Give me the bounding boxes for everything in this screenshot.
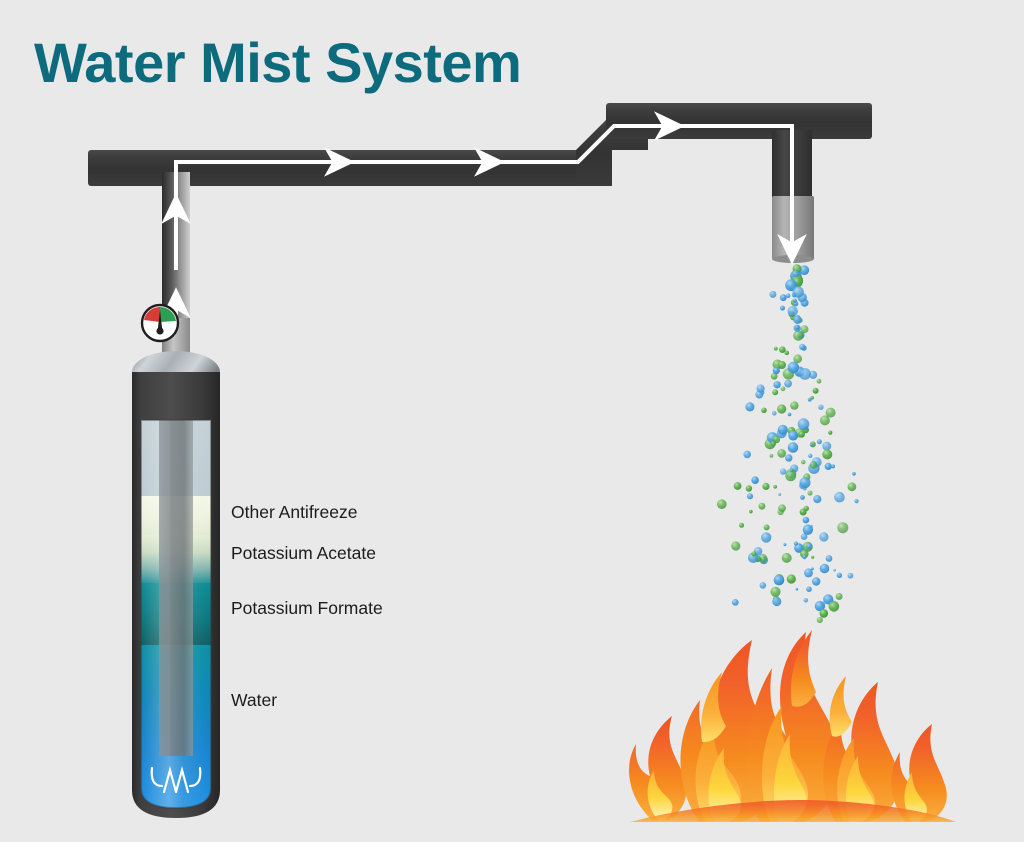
mist-droplet xyxy=(813,495,821,503)
mist-droplet xyxy=(836,593,843,600)
mist-droplet xyxy=(785,470,796,481)
tank-liquid-window xyxy=(139,418,213,813)
storage-tank xyxy=(132,318,220,818)
mist-droplet xyxy=(734,482,742,490)
mist-droplet xyxy=(731,541,740,550)
mist-droplet xyxy=(855,499,859,503)
mist-droplet xyxy=(817,379,822,384)
mist-droplet xyxy=(774,347,778,351)
mist-droplet xyxy=(746,485,752,491)
mist-droplet xyxy=(812,577,820,585)
tank-label-other-antifreeze: Other Antifreeze xyxy=(231,502,357,523)
mist-droplet xyxy=(773,381,780,388)
gauge-hub xyxy=(156,327,163,334)
mist-droplet xyxy=(787,574,796,583)
mist-droplet xyxy=(817,439,822,444)
mist-droplet xyxy=(807,490,812,495)
mist-droplet xyxy=(790,469,793,472)
mist-droplet xyxy=(806,543,812,549)
mist-droplet xyxy=(794,541,798,545)
mist-droplet xyxy=(773,436,780,443)
mist-droplet xyxy=(751,551,756,556)
mist-droplet xyxy=(822,442,831,451)
mist-droplet xyxy=(793,299,797,303)
nozzle-tip xyxy=(772,255,814,263)
mist-droplet xyxy=(760,582,767,589)
mist-droplet xyxy=(808,454,812,458)
mist-droplet xyxy=(770,454,774,458)
mist-droplet xyxy=(751,476,759,484)
mist-droplet xyxy=(762,483,769,490)
mist-droplet xyxy=(810,443,813,446)
mist-droplet xyxy=(792,270,799,277)
mist-droplet xyxy=(793,354,802,363)
mist-droplet xyxy=(778,425,788,435)
mist-droplet xyxy=(837,522,848,533)
flame-tip-4 xyxy=(830,676,852,737)
tank-label-potassium-acetate: Potassium Acetate xyxy=(231,543,376,564)
mist-droplet xyxy=(770,587,780,597)
water-mist-droplets xyxy=(717,264,859,623)
mist-droplet xyxy=(772,389,778,395)
mist-droplet xyxy=(788,413,792,417)
mist-droplet xyxy=(820,415,830,425)
mist-droplet xyxy=(788,442,799,453)
mist-droplet xyxy=(820,609,829,618)
pipe-network xyxy=(88,103,872,368)
mist-droplet xyxy=(837,573,842,578)
mist-droplet xyxy=(831,464,835,468)
mist-droplet xyxy=(848,482,857,491)
mist-droplet xyxy=(813,388,819,394)
mist-droplet xyxy=(773,485,777,489)
mist-droplet xyxy=(802,555,806,559)
mist-droplet xyxy=(804,598,809,603)
mist-droplet xyxy=(780,294,787,301)
fire-flames xyxy=(629,630,956,822)
water-mist-system-illustration xyxy=(0,0,1024,842)
diagram-canvas: Water Mist System Other Antifreeze Potas… xyxy=(0,0,1024,842)
mist-droplet xyxy=(778,504,786,512)
mist-droplet xyxy=(780,306,785,311)
mist-droplet xyxy=(820,564,830,574)
tank-label-potassium-formate: Potassium Formate xyxy=(231,598,383,619)
mist-droplet xyxy=(818,405,823,410)
mist-droplet xyxy=(777,404,786,413)
mist-droplet xyxy=(803,517,810,524)
mist-droplet xyxy=(761,532,771,542)
mist-droplet xyxy=(798,418,810,430)
mist-droplet xyxy=(786,293,791,298)
mist-droplet xyxy=(804,568,813,577)
pipe-header-left xyxy=(88,150,580,186)
mist-droplet xyxy=(800,477,811,488)
mist-droplet xyxy=(811,556,814,559)
mist-droplet xyxy=(799,368,811,380)
mist-droplet xyxy=(778,361,786,369)
mist-droplet xyxy=(784,380,792,388)
mist-droplet xyxy=(828,431,832,435)
mist-droplet xyxy=(764,524,770,530)
pressure-gauge[interactable] xyxy=(142,305,178,341)
mist-droplet xyxy=(743,451,751,459)
mist-droplet xyxy=(788,431,798,441)
mist-droplet xyxy=(788,362,799,373)
mist-droplet xyxy=(772,411,777,416)
mist-droplet xyxy=(808,398,812,402)
mist-droplet xyxy=(799,344,805,350)
mist-droplet xyxy=(781,386,786,391)
gauge-red-arc xyxy=(144,307,160,322)
mist-droplet xyxy=(732,599,739,606)
mist-droplet xyxy=(758,503,765,510)
mist-droplet xyxy=(717,499,727,509)
mist-droplet xyxy=(801,460,806,465)
mist-droplet xyxy=(782,553,792,563)
mist-droplet xyxy=(825,463,832,470)
mist-droplet xyxy=(852,472,856,476)
mist-droplet xyxy=(819,532,828,541)
mist-droplet xyxy=(826,555,833,562)
mist-droplet xyxy=(796,588,799,591)
mist-droplet xyxy=(822,449,832,459)
mist-droplet xyxy=(810,461,817,468)
page-title: Water Mist System xyxy=(34,30,521,95)
pipe-header-right xyxy=(606,103,872,139)
mist-droplet xyxy=(795,325,800,330)
mist-droplet xyxy=(793,330,803,340)
mist-droplet xyxy=(761,408,767,414)
mist-droplet xyxy=(778,493,781,496)
mist-droplet xyxy=(739,523,744,528)
tank-glass-sheen xyxy=(141,420,211,810)
mist-droplet xyxy=(779,346,786,353)
mist-droplet xyxy=(810,525,813,528)
mist-droplet xyxy=(793,286,804,297)
mist-droplet xyxy=(833,569,836,572)
mist-droplet xyxy=(757,385,765,393)
mist-droplet xyxy=(769,291,776,298)
mist-droplet xyxy=(780,468,786,474)
mist-droplet xyxy=(774,575,785,586)
mist-droplet xyxy=(829,601,840,612)
mist-droplet xyxy=(745,402,754,411)
mist-droplet xyxy=(800,495,805,500)
mist-droplet xyxy=(790,401,798,409)
mist-droplet xyxy=(800,509,807,516)
mist-droplet xyxy=(793,316,801,324)
mist-droplet xyxy=(798,431,805,438)
mist-droplet xyxy=(806,586,812,592)
tank-label-water: Water xyxy=(231,690,277,711)
mist-droplet xyxy=(834,492,845,503)
mist-droplet xyxy=(785,454,792,461)
mist-droplet xyxy=(773,367,780,374)
mist-droplet xyxy=(777,449,786,458)
mist-droplet xyxy=(749,510,753,514)
mist-droplet xyxy=(747,493,753,499)
mist-droplet xyxy=(772,597,781,606)
mist-droplet xyxy=(788,306,798,316)
mist-droplet xyxy=(848,573,854,579)
mist-droplet xyxy=(817,617,823,623)
mist-droplet xyxy=(783,543,786,546)
